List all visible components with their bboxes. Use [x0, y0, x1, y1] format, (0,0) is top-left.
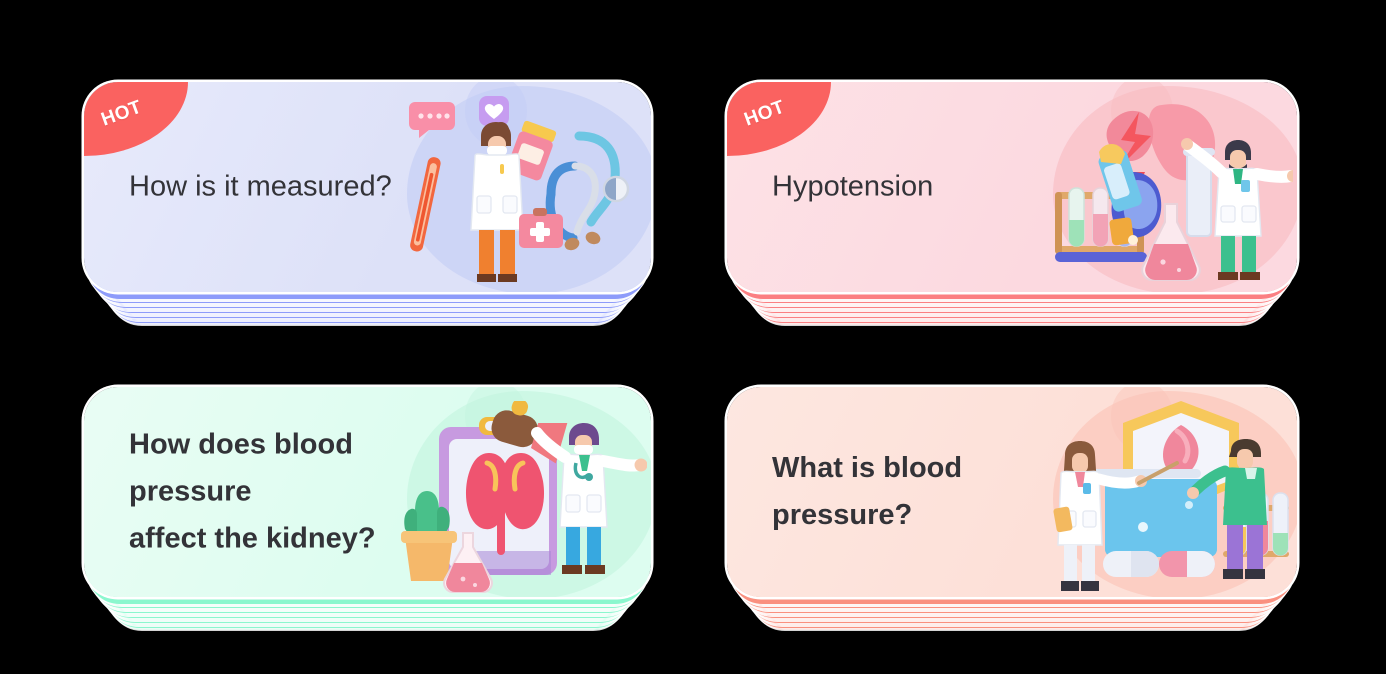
topic-card[interactable]: How does blood pressure affect the kidne…	[84, 387, 651, 639]
card-face[interactable]: How does blood pressure affect the kidne…	[84, 387, 651, 597]
hot-badge-label: HOT	[98, 97, 145, 132]
topic-card[interactable]: HypotensionHOT	[727, 82, 1297, 334]
card-title: Hypotension	[772, 164, 933, 211]
card-face[interactable]: How is it measured?HOT	[84, 82, 651, 292]
topic-card[interactable]: What is blood pressure?	[727, 387, 1297, 639]
card-title: What is blood pressure?	[772, 445, 962, 539]
topic-card[interactable]: How is it measured?HOT	[84, 82, 651, 334]
doctor-with-first-aid-kit-and-stethoscope-illustration	[401, 96, 647, 292]
card-grid-page: How is it measured?HOT	[0, 0, 1386, 674]
hot-badge-label: HOT	[741, 97, 788, 132]
broken-heart-lab-flask-doctor-illustration	[1047, 96, 1293, 292]
card-title: How is it measured?	[129, 164, 392, 211]
card-face[interactable]: HypotensionHOT	[727, 82, 1297, 292]
two-doctors-pill-test-tubes-illustration	[1047, 401, 1293, 597]
card-title: How does blood pressure affect the kidne…	[129, 422, 449, 563]
card-face[interactable]: What is blood pressure?	[727, 387, 1297, 597]
